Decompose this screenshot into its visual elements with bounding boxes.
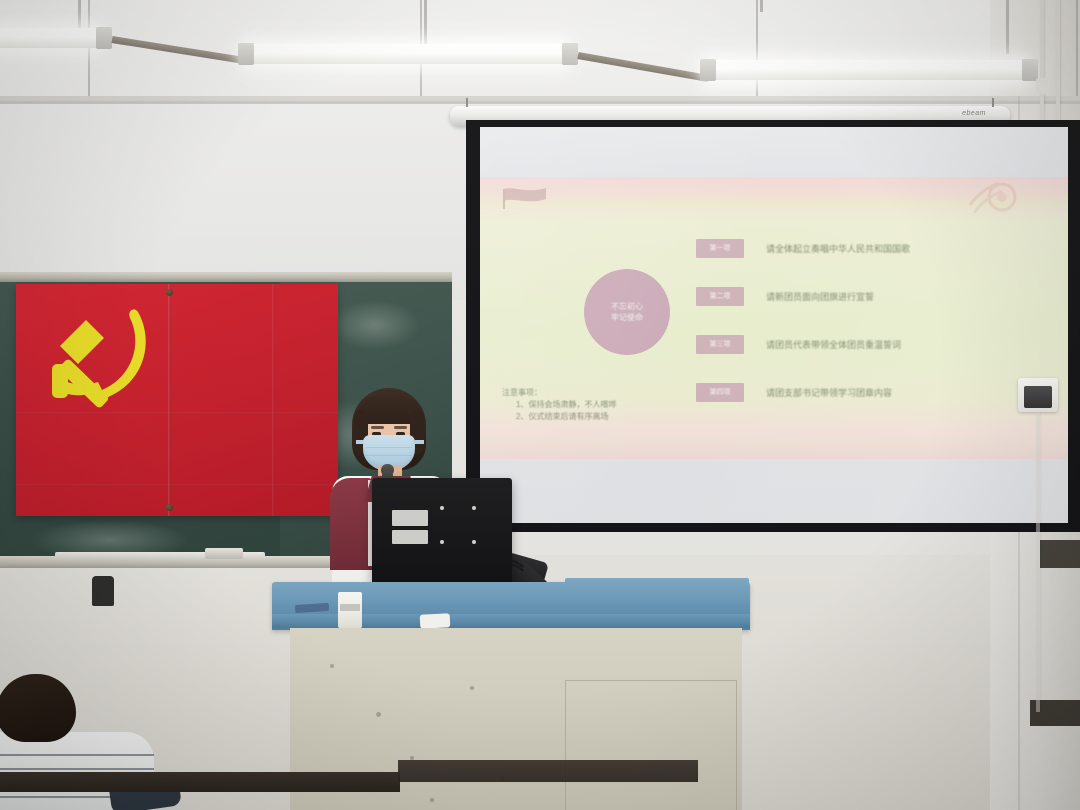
flag-pin [166, 289, 173, 296]
roller-brand-label: ebeam [962, 110, 986, 117]
monitor-vesa-screw [440, 506, 444, 510]
slide-row-text: 请团员代表带领全体团员重温誓词 [766, 338, 901, 351]
projection-screen[interactable]: 不忘初心 牢记使命 第一项 请全体起立奏唱中华人民共和国国歌 第二项 [466, 120, 1080, 532]
light-suspension-rod [760, 0, 763, 12]
slide-footnote: 注意事项： 1、保持会场肃静，不人喧哗 2、仪式结束后请有序离场 [502, 387, 616, 423]
light-suspension-rod [78, 0, 81, 30]
paper-cup-print [340, 604, 360, 611]
slide-flag-icon [502, 185, 548, 211]
flag-crease [16, 484, 338, 487]
blackboard-smudge [330, 300, 420, 350]
eyebrow [371, 426, 384, 429]
tissue[interactable] [420, 613, 451, 629]
mask-fold [366, 455, 412, 456]
slide-row-tag-label: 第四项 [710, 387, 731, 397]
slide-row-text: 请新团员面向团旗进行宣誓 [766, 290, 874, 303]
cabinet-speck [430, 798, 434, 802]
tube-end-cap [96, 27, 112, 49]
mask-ear-strap [415, 440, 424, 444]
monitor-vesa-screw [472, 540, 476, 544]
slide-row-tag: 第二项 [696, 287, 744, 306]
conduit-junction-box [1036, 78, 1050, 94]
slide-seal-icon [968, 179, 1028, 221]
wall-baseboard [1040, 540, 1080, 568]
slide-note-line: 1、保持会场肃静，不人喧哗 [502, 399, 616, 411]
hammer-and-sickle-icon [42, 306, 160, 414]
slide-row-tag: 第三项 [696, 335, 744, 354]
slide-row-tag: 第四项 [696, 383, 744, 402]
light-suspension-rod [1006, 0, 1009, 54]
wall-panel-line [756, 0, 758, 96]
wall-baseboard [0, 772, 400, 792]
tube-end-cap [562, 43, 578, 65]
tube-end-cap [238, 43, 254, 65]
slide-agenda-row: 第四项 请团支部书记带领学习团章内容 [696, 375, 1056, 409]
slide-circle-line1: 不忘初心 [611, 301, 643, 312]
shirt-stripe [0, 768, 154, 770]
slide-agenda-row: 第三项 请团员代表带领全体团员重温誓词 [696, 327, 1056, 361]
slide-row-text: 请全体起立奏唱中华人民共和国国歌 [766, 242, 910, 255]
wall-panel-line [88, 0, 90, 96]
fluorescent-tube-center [244, 44, 566, 64]
cabinet-speck [376, 712, 381, 717]
flag-pin [166, 504, 173, 511]
monitor-vesa-screw [440, 540, 444, 544]
classroom-photo-scene: ebeam 不忘初心 牢记使命 [0, 0, 1080, 810]
cabinet-speck [330, 664, 334, 668]
lectern-monitor[interactable]: DELL [372, 478, 512, 596]
eyebrow [394, 426, 407, 429]
slide-row-text: 请团支部书记带领学习团章内容 [766, 386, 892, 399]
slide-agenda-list: 第一项 请全体起立奏唱中华人民共和国国歌 第二项 请新团员面向团旗进行宣誓 第三… [696, 231, 1056, 423]
tube-end-cap [700, 59, 716, 81]
flag-crease [16, 412, 338, 415]
roller-hook [466, 98, 468, 107]
slide-row-tag-label: 第三项 [710, 339, 731, 349]
slide-note-line: 注意事项： [502, 387, 616, 399]
ceiling-seam-shadow [0, 101, 1080, 104]
roller-hook [992, 98, 994, 107]
flag-fold [272, 284, 275, 516]
slide-circle-line2: 牢记使命 [611, 312, 643, 323]
screen-surface: 不忘初心 牢记使命 第一项 请全体起立奏唱中华人民共和国国歌 第二项 [480, 127, 1068, 523]
slide-row-tag-label: 第二项 [710, 291, 731, 301]
chinese-communist-party-flag [16, 284, 338, 516]
lectern-door-panel[interactable] [565, 680, 737, 810]
fluorescent-tube-left [0, 28, 100, 48]
flag-fold [168, 284, 171, 516]
mask-fold [366, 447, 412, 448]
slide-agenda-row: 第二项 请新团员面向团旗进行宣誓 [696, 279, 1056, 313]
slide-note-line: 2、仪式结束后请有序离场 [502, 411, 616, 423]
monitor-sticker [392, 530, 428, 544]
wall-socket[interactable] [92, 576, 114, 606]
cabinet-speck [470, 686, 474, 690]
monitor-vesa-screw [472, 506, 476, 510]
slide-row-tag-label: 第一项 [710, 243, 731, 253]
shirt-stripe [0, 754, 154, 756]
slide-row-tag: 第一项 [696, 239, 744, 258]
wall-panel-line [1076, 0, 1078, 96]
wall-baseboard [398, 760, 698, 782]
wall-conduit [1036, 412, 1040, 712]
monitor-sticker [392, 510, 428, 526]
slide-center-circle: 不忘初心 牢记使命 [584, 269, 670, 355]
slide-bottom-band [480, 437, 1068, 459]
presentation-slide: 不忘初心 牢记使命 第一项 请全体起立奏唱中华人民共和国国歌 第二项 [480, 177, 1068, 459]
fluorescent-tube-right [706, 60, 1026, 80]
light-suspension-rod [424, 0, 427, 44]
wall-control-panel-screen [1024, 386, 1052, 408]
blackboard-eraser[interactable] [205, 548, 243, 559]
slide-agenda-row: 第一项 请全体起立奏唱中华人民共和国国歌 [696, 231, 1056, 265]
blackboard-top-rail [0, 272, 452, 282]
